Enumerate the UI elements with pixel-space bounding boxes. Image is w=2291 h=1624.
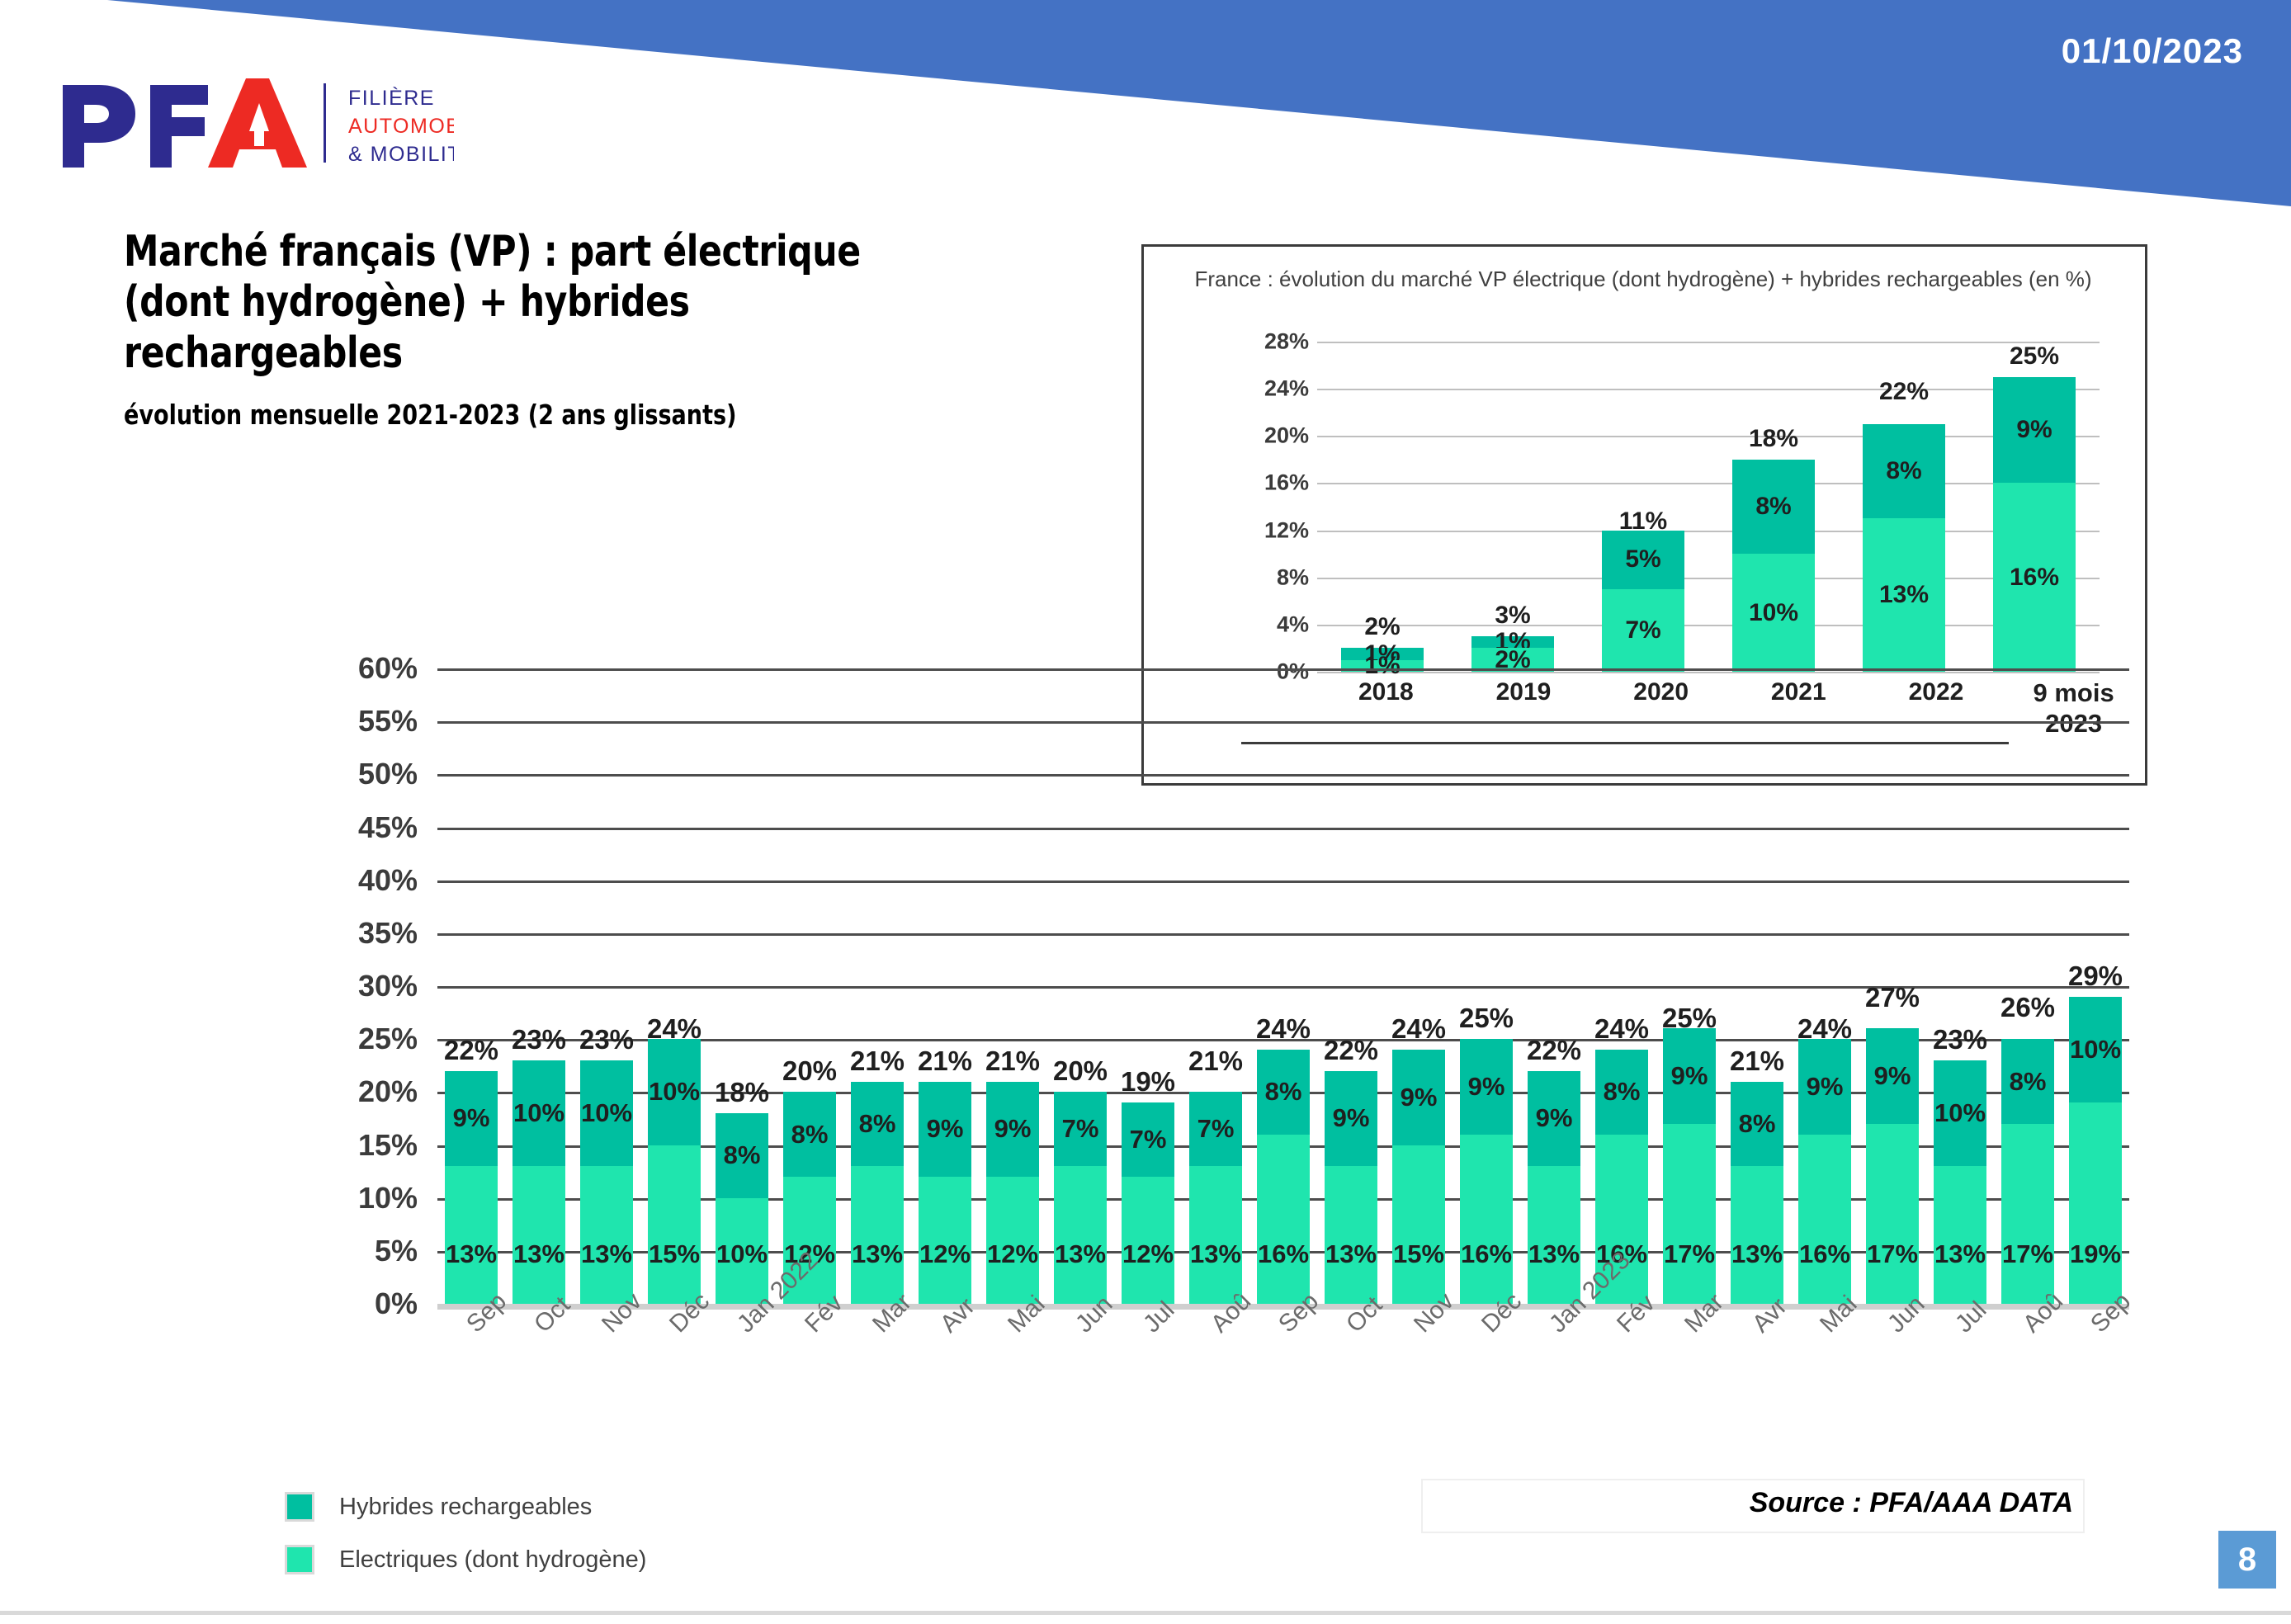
main-x-tick-cell: Aoû bbox=[1994, 1314, 2062, 1438]
main-bar-segment-bev: 17% bbox=[1663, 1124, 1716, 1304]
main-bar-segment-bev: 16% bbox=[1460, 1135, 1513, 1304]
main-bar-segment-phev: 9% bbox=[919, 1082, 971, 1178]
main-bar-segment-phev: 10% bbox=[1934, 1060, 1986, 1166]
inset-bar-segment-phev: 9% bbox=[1993, 377, 2076, 484]
main-x-tick-cell: Jun bbox=[1046, 1314, 1114, 1438]
main-bar-column: 20%8%12% bbox=[776, 668, 843, 1304]
main-bar-total-label: 23% bbox=[579, 1024, 634, 1055]
main-segment-label: 9% bbox=[1874, 1061, 1911, 1091]
main-bar-segment-phev: 10% bbox=[2069, 997, 2122, 1102]
main-bar-total-label: 25% bbox=[1459, 1003, 1514, 1034]
main-bar-segment-bev: 12% bbox=[1122, 1177, 1174, 1304]
main-bar-column: 21%7%13% bbox=[1182, 668, 1249, 1304]
main-bar-total-label: 29% bbox=[2068, 961, 2123, 992]
main-y-tick: 0% bbox=[375, 1286, 418, 1321]
main-y-tick: 60% bbox=[358, 651, 418, 686]
main-bar-segment-phev: 9% bbox=[1528, 1071, 1580, 1167]
main-bar-segment-bev: 13% bbox=[445, 1166, 498, 1304]
inset-segment-label: 10% bbox=[1749, 599, 1798, 627]
main-x-tick-cell: Déc bbox=[640, 1314, 708, 1438]
main-segment-label: 16% bbox=[1258, 1239, 1309, 1269]
main-segment-label: 13% bbox=[581, 1239, 632, 1269]
main-segment-label: 12% bbox=[987, 1239, 1038, 1269]
chart-legend: Hybrides rechargeablesElectriques (dont … bbox=[285, 1492, 646, 1598]
main-bar-segment-phev: 8% bbox=[2001, 1039, 2054, 1124]
main-segment-label: 19% bbox=[2070, 1239, 2121, 1269]
main-segment-label: 13% bbox=[1731, 1239, 1783, 1269]
inset-bar-total-label: 22% bbox=[1863, 378, 1945, 406]
inset-bar-total-label: 2% bbox=[1341, 613, 1424, 641]
main-bar-segment-bev: 16% bbox=[1798, 1135, 1851, 1304]
inset-segment-label: 8% bbox=[1755, 493, 1791, 521]
main-segment-label: 9% bbox=[1671, 1061, 1708, 1091]
main-x-tick-cell: Nov bbox=[1385, 1314, 1453, 1438]
main-bar-segment-phev: 8% bbox=[783, 1092, 836, 1177]
inset-bar-total-label: 3% bbox=[1471, 602, 1554, 630]
main-x-tick-cell: Avr bbox=[911, 1314, 979, 1438]
inset-y-tick: 24% bbox=[1264, 376, 1309, 402]
main-bar-segment-phev: 8% bbox=[716, 1113, 768, 1198]
main-bar-segment-phev: 10% bbox=[513, 1060, 565, 1166]
main-segment-label: 13% bbox=[446, 1239, 497, 1269]
main-bar-segment-bev: 13% bbox=[1934, 1166, 1986, 1304]
main-bar-total-label: 26% bbox=[2000, 992, 2055, 1023]
main-segment-label: 12% bbox=[1122, 1239, 1174, 1269]
main-bar-total-label: 19% bbox=[1121, 1066, 1175, 1098]
main-y-tick: 45% bbox=[358, 810, 418, 845]
main-bar-segment-phev: 9% bbox=[445, 1071, 498, 1167]
main-segment-label: 17% bbox=[1664, 1239, 1715, 1269]
main-bar-column: 24%8%16% bbox=[1249, 668, 1317, 1304]
main-bar-group: 22%9%13%23%10%13%23%10%13%24%10%15%18%8%… bbox=[437, 668, 2129, 1304]
main-y-tick: 10% bbox=[358, 1181, 418, 1216]
main-bar-segment-phev: 8% bbox=[851, 1082, 904, 1167]
main-y-tick: 25% bbox=[358, 1022, 418, 1056]
main-segment-label: 7% bbox=[1130, 1125, 1167, 1154]
page-title: Marché français (VP) : part électrique (… bbox=[124, 227, 936, 379]
main-x-tick-cell: Oct bbox=[1317, 1314, 1385, 1438]
logo-line-filiere: FILIÈRE bbox=[348, 86, 435, 110]
main-segment-label: 8% bbox=[859, 1109, 896, 1139]
main-bar-segment-bev: 13% bbox=[1189, 1166, 1242, 1304]
inset-y-axis: 0%4%8%12%16%20%24%28% bbox=[1241, 342, 1316, 672]
main-x-tick-cell: Mar bbox=[1656, 1314, 1723, 1438]
inset-bar-column: 2%1%1% bbox=[1341, 342, 1424, 672]
main-segment-label: 10% bbox=[513, 1098, 564, 1128]
main-y-tick: 5% bbox=[375, 1234, 418, 1268]
inset-segment-label: 5% bbox=[1625, 545, 1660, 574]
main-bar-column: 22%9%13% bbox=[437, 668, 505, 1304]
inset-bar-column: 18%8%10% bbox=[1732, 342, 1815, 672]
main-x-tick-cell: Fév bbox=[776, 1314, 843, 1438]
header-date: 01/10/2023 bbox=[2062, 31, 2243, 71]
main-bar-total-label: 20% bbox=[1053, 1055, 1108, 1087]
main-x-tick-cell: Nov bbox=[573, 1314, 640, 1438]
logo-line-automobile: AUTOMOBILE bbox=[348, 115, 454, 138]
inset-y-tick: 4% bbox=[1277, 611, 1309, 637]
main-bar-column: 22%9%13% bbox=[1317, 668, 1385, 1304]
main-segment-label: 10% bbox=[2070, 1035, 2121, 1065]
main-x-tick-cell: Fév bbox=[1588, 1314, 1656, 1438]
main-bar-segment-bev: 13% bbox=[1528, 1166, 1580, 1304]
page-number-badge: 8 bbox=[2218, 1531, 2276, 1589]
main-bar-column: 25%9%17% bbox=[1656, 668, 1723, 1304]
main-y-tick: 15% bbox=[358, 1128, 418, 1163]
main-bar-column: 21%9%12% bbox=[911, 668, 979, 1304]
main-bar-total-label: 22% bbox=[444, 1035, 498, 1066]
inset-bar-segment-phev: 5% bbox=[1602, 531, 1684, 589]
inset-bar-segment-bev: 16% bbox=[1993, 483, 2076, 672]
main-bar-segment-bev: 17% bbox=[1866, 1124, 1919, 1304]
inset-bar-group: 2%1%1%3%1%2%11%5%7%18%8%10%22%8%13%25%9%… bbox=[1317, 342, 2100, 672]
inset-bar-column: 22%8%13% bbox=[1863, 342, 1945, 672]
main-bar-column: 24%9%15% bbox=[1385, 668, 1453, 1304]
main-x-tick-cell: Jul bbox=[1114, 1314, 1182, 1438]
main-segment-label: 8% bbox=[1604, 1077, 1641, 1107]
main-bar-column: 24%10%15% bbox=[640, 668, 708, 1304]
inset-y-tick: 20% bbox=[1264, 423, 1309, 449]
main-y-tick: 50% bbox=[358, 757, 418, 791]
main-bar-total-label: 23% bbox=[512, 1024, 566, 1055]
main-bar-segment-bev: 10% bbox=[716, 1198, 768, 1304]
main-bar-total-label: 21% bbox=[985, 1046, 1040, 1077]
main-bar-column: 21%9%12% bbox=[979, 668, 1046, 1304]
main-y-axis: 0%5%10%15%20%25%30%35%40%45%50%55%60% bbox=[305, 668, 429, 1304]
main-segment-label: 10% bbox=[1934, 1098, 1986, 1128]
main-y-tick: 35% bbox=[358, 916, 418, 951]
main-bar-segment-bev: 12% bbox=[919, 1177, 971, 1304]
main-x-tick-cell: Jul bbox=[1926, 1314, 1994, 1438]
main-segment-label: 9% bbox=[1468, 1072, 1505, 1102]
main-bar-column: 29%10%19% bbox=[2062, 668, 2129, 1304]
main-segment-label: 10% bbox=[716, 1239, 768, 1269]
main-bar-segment-phev: 9% bbox=[1392, 1050, 1445, 1145]
page-subtitle: évolution mensuelle 2021-2023 (2 ans gli… bbox=[124, 399, 936, 431]
main-bar-total-label: 24% bbox=[1256, 1013, 1311, 1045]
main-bar-column: 20%7%13% bbox=[1046, 668, 1114, 1304]
main-bar-segment-phev: 10% bbox=[648, 1039, 701, 1145]
main-y-tick: 55% bbox=[358, 704, 418, 739]
main-x-tick-cell: Avr bbox=[1723, 1314, 1791, 1438]
main-bar-segment-bev: 16% bbox=[1257, 1135, 1310, 1304]
main-segment-label: 9% bbox=[453, 1103, 490, 1133]
main-bar-total-label: 23% bbox=[1933, 1024, 1987, 1055]
main-bar-total-label: 27% bbox=[1865, 982, 1920, 1013]
main-bar-segment-bev: 13% bbox=[1054, 1166, 1107, 1304]
main-segment-label: 9% bbox=[1807, 1072, 1844, 1102]
main-bar-segment-bev: 12% bbox=[986, 1177, 1039, 1304]
main-bar-column: 25%9%16% bbox=[1453, 668, 1520, 1304]
main-segment-label: 17% bbox=[2002, 1239, 2053, 1269]
main-bar-column: 27%9%17% bbox=[1859, 668, 1926, 1304]
main-segment-label: 13% bbox=[1325, 1239, 1377, 1269]
main-segment-label: 12% bbox=[919, 1239, 971, 1269]
main-bar-column: 21%8%13% bbox=[1723, 668, 1791, 1304]
main-bar-segment-phev: 9% bbox=[1663, 1028, 1716, 1124]
inset-bar-segment-phev: 8% bbox=[1863, 424, 1945, 518]
main-segment-label: 13% bbox=[1934, 1239, 1986, 1269]
main-segment-label: 9% bbox=[1333, 1103, 1370, 1133]
bottom-divider bbox=[0, 1611, 2291, 1615]
main-bar-column: 23%10%13% bbox=[1926, 668, 1994, 1304]
inset-bar-total-label: 18% bbox=[1732, 425, 1815, 453]
main-x-axis: SepOctNovDécJan 2022FévMarAvrMaiJunJulAo… bbox=[437, 1314, 2129, 1438]
inset-bar-column: 3%1%2% bbox=[1471, 342, 1554, 672]
main-bar-column: 24%8%16% bbox=[1588, 668, 1656, 1304]
main-y-tick: 30% bbox=[358, 969, 418, 1003]
inset-y-tick: 28% bbox=[1264, 329, 1309, 355]
title-block: Marché français (VP) : part électrique (… bbox=[124, 227, 1114, 431]
main-bar-segment-bev: 19% bbox=[2069, 1102, 2122, 1304]
main-bar-total-label: 24% bbox=[1594, 1013, 1649, 1045]
main-x-tick-cell: Déc bbox=[1453, 1314, 1520, 1438]
inset-bar-column: 11%5%7% bbox=[1602, 342, 1684, 672]
main-x-tick-cell: Mar bbox=[843, 1314, 911, 1438]
main-bar-column: 23%10%13% bbox=[505, 668, 573, 1304]
main-segment-label: 17% bbox=[1867, 1239, 1918, 1269]
main-segment-label: 8% bbox=[2010, 1067, 2047, 1097]
main-bar-segment-bev: 13% bbox=[513, 1166, 565, 1304]
inset-bar-column: 25%9%16% bbox=[1993, 342, 2076, 672]
main-x-tick-cell: Sep bbox=[1249, 1314, 1317, 1438]
main-x-tick-cell: Jan 2023 bbox=[1520, 1314, 1588, 1438]
main-bar-column: 26%8%17% bbox=[1994, 668, 2062, 1304]
main-chart: 0%5%10%15%20%25%30%35%40%45%50%55%60% 22… bbox=[314, 668, 2129, 1353]
main-x-tick-cell: Mai bbox=[979, 1314, 1046, 1438]
main-segment-label: 15% bbox=[1393, 1239, 1444, 1269]
main-bar-segment-phev: 9% bbox=[1325, 1071, 1377, 1167]
main-bar-segment-bev: 13% bbox=[580, 1166, 633, 1304]
main-bar-total-label: 22% bbox=[1324, 1035, 1378, 1066]
main-bar-column: 19%7%12% bbox=[1114, 668, 1182, 1304]
main-x-tick-cell: Aoû bbox=[1182, 1314, 1249, 1438]
legend-item[interactable]: Electriques (dont hydrogène) bbox=[285, 1545, 646, 1574]
main-segment-label: 9% bbox=[927, 1114, 964, 1144]
main-segment-label: 13% bbox=[852, 1239, 903, 1269]
main-bar-total-label: 20% bbox=[782, 1055, 837, 1087]
main-segment-label: 8% bbox=[791, 1120, 829, 1150]
main-bar-segment-bev: 13% bbox=[851, 1166, 904, 1304]
main-bar-segment-phev: 9% bbox=[986, 1082, 1039, 1178]
main-segment-label: 13% bbox=[513, 1239, 564, 1269]
main-segment-label: 8% bbox=[1265, 1077, 1302, 1107]
main-bar-column: 24%9%16% bbox=[1791, 668, 1859, 1304]
main-segment-label: 9% bbox=[1536, 1103, 1573, 1133]
main-x-tick-cell: Sep bbox=[437, 1314, 505, 1438]
main-segment-label: 9% bbox=[1401, 1083, 1438, 1112]
main-y-tick: 20% bbox=[358, 1074, 418, 1109]
main-segment-label: 13% bbox=[1528, 1239, 1580, 1269]
source-label: Source : PFA/AAA DATA bbox=[1750, 1487, 2073, 1519]
main-segment-label: 7% bbox=[1062, 1114, 1099, 1144]
main-bar-segment-bev: 15% bbox=[648, 1145, 701, 1305]
main-segment-label: 16% bbox=[1461, 1239, 1512, 1269]
main-segment-label: 15% bbox=[649, 1239, 700, 1269]
main-y-tick: 40% bbox=[358, 863, 418, 898]
main-bar-segment-phev: 7% bbox=[1189, 1092, 1242, 1166]
main-x-tick-cell: Mai bbox=[1791, 1314, 1859, 1438]
inset-plot-area: 0%4%8%12%16%20%24%28% 2%1%1%3%1%2%11%5%7… bbox=[1241, 342, 2100, 672]
inset-segment-label: 8% bbox=[1886, 457, 1921, 485]
main-bar-segment-bev: 13% bbox=[1731, 1166, 1783, 1304]
main-bar-total-label: 21% bbox=[1730, 1046, 1784, 1077]
logo-line-mobilites: & MOBILITÉS bbox=[348, 142, 454, 166]
main-segment-label: 9% bbox=[994, 1114, 1032, 1144]
main-bar-segment-bev: 15% bbox=[1392, 1145, 1445, 1305]
inset-y-tick: 16% bbox=[1264, 470, 1309, 496]
main-segment-label: 10% bbox=[581, 1098, 632, 1128]
main-x-tick-cell: Oct bbox=[505, 1314, 573, 1438]
main-bar-total-label: 21% bbox=[1188, 1046, 1243, 1077]
main-bar-segment-phev: 10% bbox=[580, 1060, 633, 1166]
inset-bar-segment-bev: 7% bbox=[1602, 589, 1684, 672]
main-bar-segment-phev: 7% bbox=[1054, 1092, 1107, 1166]
main-x-tick-cell: Sep bbox=[2062, 1314, 2129, 1438]
inset-segment-label: 16% bbox=[2010, 564, 2059, 592]
legend-swatch-icon bbox=[285, 1492, 314, 1522]
pfa-logo: FILIÈRE AUTOMOBILE & MOBILITÉS bbox=[58, 78, 454, 169]
main-bar-total-label: 21% bbox=[918, 1046, 972, 1077]
main-segment-label: 10% bbox=[649, 1077, 700, 1107]
main-segment-label: 13% bbox=[1055, 1239, 1106, 1269]
inset-bar-segment-bev: 13% bbox=[1863, 518, 1945, 672]
main-bar-total-label: 21% bbox=[850, 1046, 905, 1077]
main-bar-total-label: 24% bbox=[1391, 1013, 1446, 1045]
main-bar-total-label: 18% bbox=[715, 1077, 769, 1108]
main-segment-label: 13% bbox=[1190, 1239, 1241, 1269]
main-bar-segment-phev: 7% bbox=[1122, 1102, 1174, 1177]
inset-segment-label: 7% bbox=[1625, 616, 1660, 644]
inset-segment-label: 13% bbox=[1879, 581, 1929, 609]
main-bar-column: 21%8%13% bbox=[843, 668, 911, 1304]
main-bar-column: 23%10%13% bbox=[573, 668, 640, 1304]
main-x-tick-cell: Jan 2022 bbox=[708, 1314, 776, 1438]
main-bar-total-label: 22% bbox=[1527, 1035, 1581, 1066]
legend-label: Electriques (dont hydrogène) bbox=[339, 1546, 646, 1574]
main-bar-segment-phev: 8% bbox=[1595, 1050, 1648, 1135]
main-x-tick-cell: Jun bbox=[1859, 1314, 1926, 1438]
main-bar-segment-phev: 9% bbox=[1798, 1039, 1851, 1135]
inset-chart-title: France : évolution du marché VP électriq… bbox=[1193, 265, 2093, 294]
main-bar-segment-phev: 8% bbox=[1731, 1082, 1783, 1167]
main-segment-label: 8% bbox=[724, 1140, 761, 1170]
inset-bar-segment-phev: 8% bbox=[1732, 460, 1815, 554]
main-segment-label: 8% bbox=[1739, 1109, 1776, 1139]
source-box: Source : PFA/AAA DATA bbox=[1421, 1479, 2085, 1533]
main-bar-segment-bev: 17% bbox=[2001, 1124, 2054, 1304]
main-bar-segment-bev: 13% bbox=[1325, 1166, 1377, 1304]
inset-bar-segment-bev: 10% bbox=[1732, 554, 1815, 672]
main-bar-segment-phev: 9% bbox=[1460, 1039, 1513, 1135]
main-bar-column: 22%9%13% bbox=[1520, 668, 1588, 1304]
main-segment-label: 7% bbox=[1197, 1114, 1235, 1144]
legend-item[interactable]: Hybrides rechargeables bbox=[285, 1492, 646, 1522]
main-bar-column: 18%8%10% bbox=[708, 668, 776, 1304]
inset-y-tick: 8% bbox=[1277, 564, 1309, 590]
legend-label: Hybrides rechargeables bbox=[339, 1494, 592, 1521]
inset-bar-total-label: 25% bbox=[1993, 342, 2076, 371]
main-bar-segment-phev: 9% bbox=[1866, 1028, 1919, 1124]
main-segment-label: 16% bbox=[1799, 1239, 1850, 1269]
inset-segment-label: 9% bbox=[2016, 416, 2052, 444]
inset-y-tick: 12% bbox=[1264, 517, 1309, 543]
main-bar-segment-phev: 8% bbox=[1257, 1050, 1310, 1135]
legend-swatch-icon bbox=[285, 1545, 314, 1574]
